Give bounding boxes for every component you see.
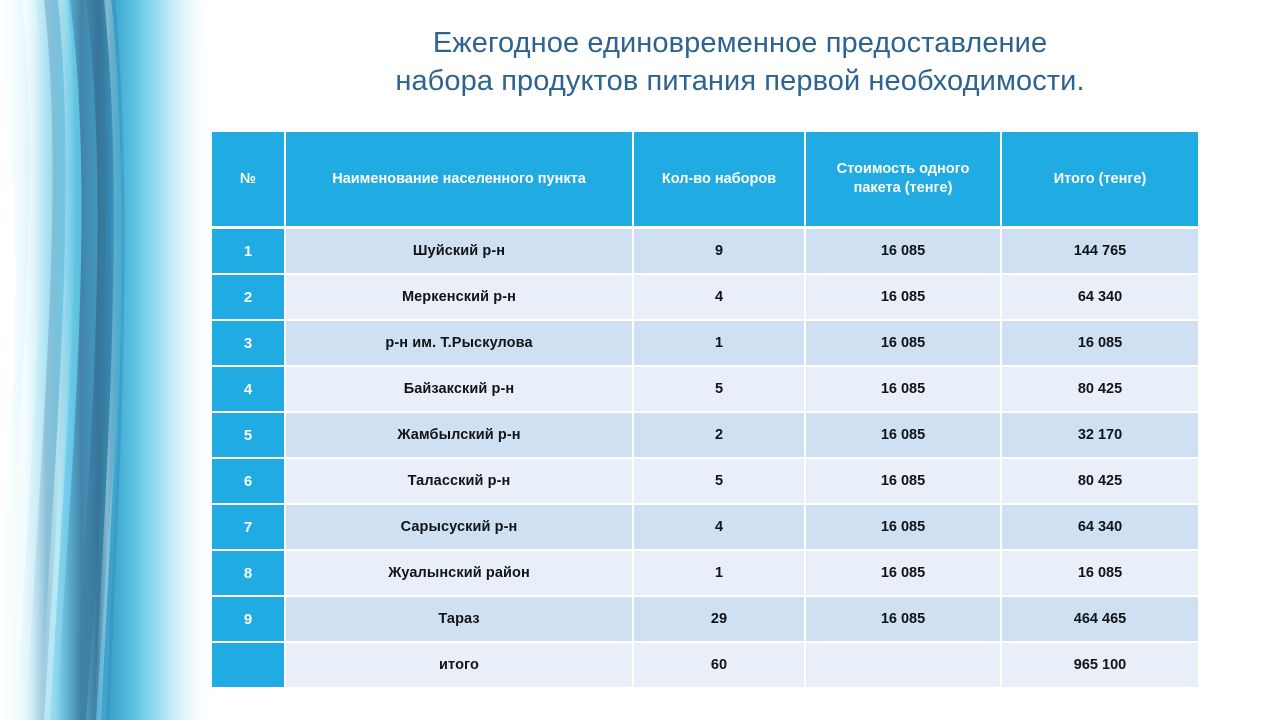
row-settlement: Сарысуский р-н xyxy=(286,505,634,551)
row-number: 3 xyxy=(212,321,286,367)
row-total: 16 085 xyxy=(1002,321,1198,367)
column-header-grand-total: Итого (тенге) xyxy=(1002,132,1198,229)
row-total: 64 340 xyxy=(1002,505,1198,551)
row-package-price: 16 085 xyxy=(806,229,1002,275)
row-number: 5 xyxy=(212,413,286,459)
row-settlement: Меркенский р-н xyxy=(286,275,634,321)
row-package-price: 16 085 xyxy=(806,505,1002,551)
row-package-price: 16 085 xyxy=(806,275,1002,321)
row-sets-count: 5 xyxy=(634,459,806,505)
row-package-price: 16 085 xyxy=(806,597,1002,643)
table-row: 5 Жамбылский р-н 2 16 085 32 170 xyxy=(212,413,1198,459)
column-header-number: № xyxy=(212,132,286,229)
row-number: 7 xyxy=(212,505,286,551)
title-line-2: набора продуктов питания первой необходи… xyxy=(240,62,1240,100)
table-header: № Наименование населенного пункта Кол-во… xyxy=(212,132,1198,229)
row-number: 6 xyxy=(212,459,286,505)
slide-canvas: Ежегодное единовременное предоставление … xyxy=(0,0,1280,720)
row-total: 32 170 xyxy=(1002,413,1198,459)
row-number: 8 xyxy=(212,551,286,597)
row-sets-count: 2 xyxy=(634,413,806,459)
row-settlement: Тараз xyxy=(286,597,634,643)
row-settlement: Таласский р-н xyxy=(286,459,634,505)
row-sets-count: 4 xyxy=(634,275,806,321)
row-settlement: Шуйский р-н xyxy=(286,229,634,275)
row-package-price: 16 085 xyxy=(806,459,1002,505)
wave-ribbon-svg xyxy=(0,0,215,720)
row-number: 9 xyxy=(212,597,286,643)
decorative-wave-graphic xyxy=(0,0,215,720)
table-row: 3 р-н им. Т.Рыскулова 1 16 085 16 085 xyxy=(212,321,1198,367)
title-line-1: Ежегодное единовременное предоставление xyxy=(240,24,1240,62)
row-number: 1 xyxy=(212,229,286,275)
row-total: 144 765 xyxy=(1002,229,1198,275)
row-settlement: Жуалынский район xyxy=(286,551,634,597)
row-settlement: Жамбылский р-н xyxy=(286,413,634,459)
row-settlement: Байзакский р-н xyxy=(286,367,634,413)
row-sets-count: 5 xyxy=(634,367,806,413)
row-total: 16 085 xyxy=(1002,551,1198,597)
table-total-row: итого 60 965 100 xyxy=(212,643,1198,687)
row-sets-count: 4 xyxy=(634,505,806,551)
row-number: 2 xyxy=(212,275,286,321)
row-total: 64 340 xyxy=(1002,275,1198,321)
table-row: 2 Меркенский р-н 4 16 085 64 340 xyxy=(212,275,1198,321)
row-package-price: 16 085 xyxy=(806,321,1002,367)
total-row-total: 965 100 xyxy=(1002,643,1198,687)
row-number: 4 xyxy=(212,367,286,413)
column-header-sets-count: Кол-во наборов xyxy=(634,132,806,229)
row-settlement: р-н им. Т.Рыскулова xyxy=(286,321,634,367)
column-header-package-price: Стоимость одного пакета (тенге) xyxy=(806,132,1002,229)
column-header-settlement: Наименование населенного пункта xyxy=(286,132,634,229)
total-row-package-price xyxy=(806,643,1002,687)
table-row: 4 Байзакский р-н 5 16 085 80 425 xyxy=(212,367,1198,413)
row-package-price: 16 085 xyxy=(806,551,1002,597)
row-sets-count: 29 xyxy=(634,597,806,643)
food-package-table: № Наименование населенного пункта Кол-во… xyxy=(212,132,1198,687)
table-body: 1 Шуйский р-н 9 16 085 144 765 2 Меркенс… xyxy=(212,229,1198,687)
table-row: 7 Сарысуский р-н 4 16 085 64 340 xyxy=(212,505,1198,551)
row-total: 464 465 xyxy=(1002,597,1198,643)
total-row-number xyxy=(212,643,286,687)
row-package-price: 16 085 xyxy=(806,367,1002,413)
slide-title: Ежегодное единовременное предоставление … xyxy=(240,24,1240,100)
table-row: 8 Жуалынский район 1 16 085 16 085 xyxy=(212,551,1198,597)
row-sets-count: 9 xyxy=(634,229,806,275)
data-table-container: № Наименование населенного пункта Кол-во… xyxy=(212,132,1198,687)
total-row-sets-count: 60 xyxy=(634,643,806,687)
row-sets-count: 1 xyxy=(634,321,806,367)
row-total: 80 425 xyxy=(1002,459,1198,505)
row-sets-count: 1 xyxy=(634,551,806,597)
table-row: 6 Таласский р-н 5 16 085 80 425 xyxy=(212,459,1198,505)
table-row: 9 Тараз 29 16 085 464 465 xyxy=(212,597,1198,643)
table-header-row: № Наименование населенного пункта Кол-во… xyxy=(212,132,1198,229)
table-row: 1 Шуйский р-н 9 16 085 144 765 xyxy=(212,229,1198,275)
row-package-price: 16 085 xyxy=(806,413,1002,459)
total-row-label: итого xyxy=(286,643,634,687)
row-total: 80 425 xyxy=(1002,367,1198,413)
